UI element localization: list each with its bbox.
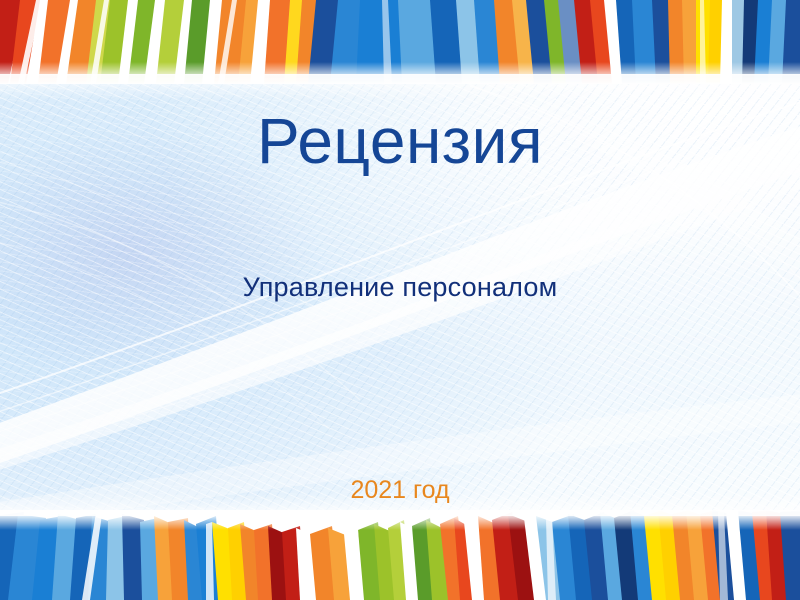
- slide-title: Рецензия: [0, 108, 800, 175]
- decor-border-bottom: [0, 510, 800, 600]
- slide-subtitle: Управление персоналом: [0, 272, 800, 303]
- slide-year: 2021 год: [0, 476, 800, 505]
- presentation-slide: Рецензия Управление персоналом 2021 год: [0, 0, 800, 600]
- decor-border-top-fade: [0, 74, 800, 100]
- decor-border-top: [0, 0, 800, 84]
